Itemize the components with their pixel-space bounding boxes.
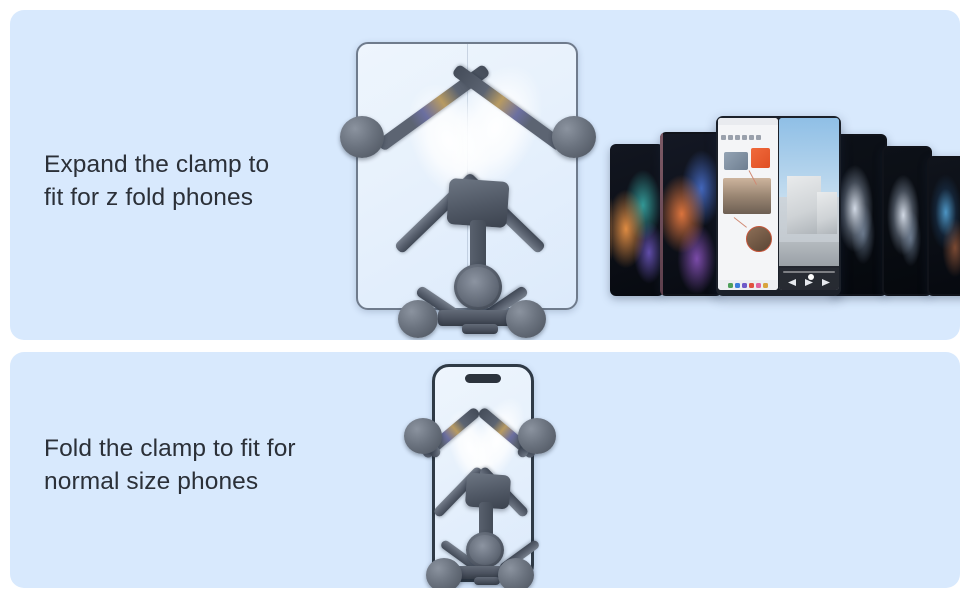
clamp-assembly-folded xyxy=(380,362,580,588)
list-item xyxy=(927,156,960,296)
ratchet-gear xyxy=(466,532,504,568)
video-player-pane xyxy=(779,118,839,290)
note-connector-line xyxy=(734,217,747,228)
clamp-ball-top-right xyxy=(518,418,556,454)
status-bar xyxy=(718,118,778,125)
list-item xyxy=(882,146,932,296)
ratchet-gear xyxy=(454,264,502,310)
dock-app-icon[interactable] xyxy=(735,283,740,288)
note-circled-detail xyxy=(746,226,772,252)
product-feature-page: Expand the clamp to fit for z fold phone… xyxy=(0,0,970,600)
video-building-secondary xyxy=(817,192,837,234)
note-photo xyxy=(723,178,771,214)
dock-app-icon[interactable] xyxy=(763,283,768,288)
notes-toolbar xyxy=(721,133,775,142)
app-dock xyxy=(718,280,778,290)
device-screen xyxy=(662,134,720,294)
list-item xyxy=(660,132,722,296)
eraser-tool-icon[interactable] xyxy=(735,135,740,140)
highlighter-tool-icon[interactable] xyxy=(728,135,733,140)
clamp-ball-bottom-right xyxy=(506,300,546,338)
note-image-thumb xyxy=(724,152,748,170)
text-tool-icon[interactable] xyxy=(749,135,754,140)
video-ground xyxy=(779,242,839,268)
open-foldable-device xyxy=(716,116,841,296)
dock-app-icon[interactable] xyxy=(749,283,754,288)
video-building xyxy=(787,176,821,234)
feature-panel-fold: Fold the clamp to fit for normal size ph… xyxy=(10,352,960,588)
device-screen xyxy=(929,158,960,294)
notes-app-pane xyxy=(718,118,778,290)
shape-tool-icon[interactable] xyxy=(742,135,747,140)
next-icon[interactable] xyxy=(822,279,830,286)
dynamic-island xyxy=(465,374,501,383)
more-tools-icon[interactable] xyxy=(756,135,761,140)
clamp-ball-bottom-left xyxy=(426,558,462,588)
clamp-ball-top-right xyxy=(552,116,596,158)
dock-app-icon[interactable] xyxy=(756,283,761,288)
clamp-assembly-expanded xyxy=(320,28,610,338)
dock-app-icon[interactable] xyxy=(728,283,733,288)
mount-base-foot xyxy=(474,577,500,585)
play-icon[interactable] xyxy=(805,279,813,286)
caption-fold-clamp: Fold the clamp to fit for normal size ph… xyxy=(44,432,394,498)
dock-app-icon[interactable] xyxy=(742,283,747,288)
device-screen xyxy=(612,146,662,294)
clamp-ball-top-left xyxy=(404,418,442,454)
previous-icon[interactable] xyxy=(788,279,796,286)
video-transport-buttons[interactable] xyxy=(779,279,839,286)
fold-hinge-seam xyxy=(660,132,663,296)
mount-base-foot xyxy=(462,324,498,334)
video-seek-bar[interactable] xyxy=(783,271,835,273)
clamp-ball-bottom-right xyxy=(498,558,534,588)
pen-tool-icon[interactable] xyxy=(721,135,726,140)
feature-panel-expand: Expand the clamp to fit for z fold phone… xyxy=(10,10,960,340)
clamp-ball-top-left xyxy=(340,116,384,158)
note-color-swatch xyxy=(751,148,770,168)
clamp-ball-bottom-left xyxy=(398,300,438,338)
device-screen xyxy=(884,148,930,294)
video-controls[interactable] xyxy=(779,266,839,290)
z-fold-phone-lineup xyxy=(610,118,960,296)
list-item xyxy=(610,144,664,296)
